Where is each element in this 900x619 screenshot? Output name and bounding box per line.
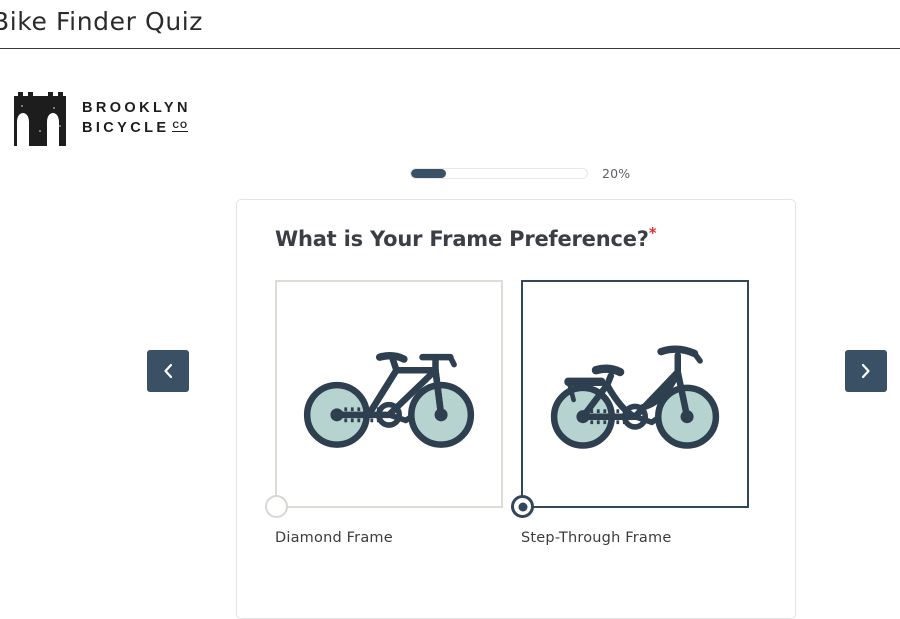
progress-percent-label: 20% — [602, 166, 630, 181]
radio-diamond-frame[interactable] — [265, 495, 288, 518]
option-diamond-frame[interactable]: Diamond Frame — [275, 280, 503, 546]
diamond-frame-bicycle-icon — [296, 333, 482, 456]
option-label-step-through-frame: Step-Through Frame — [521, 530, 749, 546]
chevron-left-icon — [162, 363, 174, 379]
brand-wordmark: BROOKLYN BICYCLE CO — [82, 97, 191, 135]
brand-logo[interactable]: BROOKLYN BICYCLE CO — [14, 86, 191, 146]
quiz-question-panel: What is Your Frame Preference?* — [236, 199, 796, 619]
question-text: What is Your Frame Preference? — [275, 227, 649, 251]
option-list: Diamond Frame — [275, 280, 749, 546]
brand-superscript: CO — [172, 121, 188, 132]
prev-question-button[interactable] — [147, 350, 189, 392]
chevron-right-icon — [860, 363, 872, 379]
brand-line-1: BROOKLYN — [82, 101, 191, 116]
next-question-button[interactable] — [845, 350, 887, 392]
option-card-diamond-frame[interactable] — [275, 280, 503, 508]
option-card-step-through-frame[interactable] — [521, 280, 749, 508]
progress-indicator: 20% — [410, 166, 630, 181]
brand-line-2: BICYCLE — [82, 121, 169, 136]
progress-bar-fill — [411, 169, 446, 178]
progress-bar-track — [410, 168, 588, 179]
brand-line-2-row: BICYCLE CO — [82, 121, 191, 136]
radio-step-through-frame[interactable] — [511, 495, 534, 518]
brooklyn-bridge-icon — [14, 86, 70, 146]
page-title: Bike Finder Quiz — [0, 7, 203, 36]
step-through-frame-bicycle-icon — [542, 333, 728, 456]
question-title: What is Your Frame Preference?* — [275, 227, 656, 251]
required-asterisk: * — [649, 224, 657, 242]
option-step-through-frame[interactable]: Step-Through Frame — [521, 280, 749, 546]
page-header: Bike Finder Quiz — [0, 0, 900, 49]
option-label-diamond-frame: Diamond Frame — [275, 530, 503, 546]
